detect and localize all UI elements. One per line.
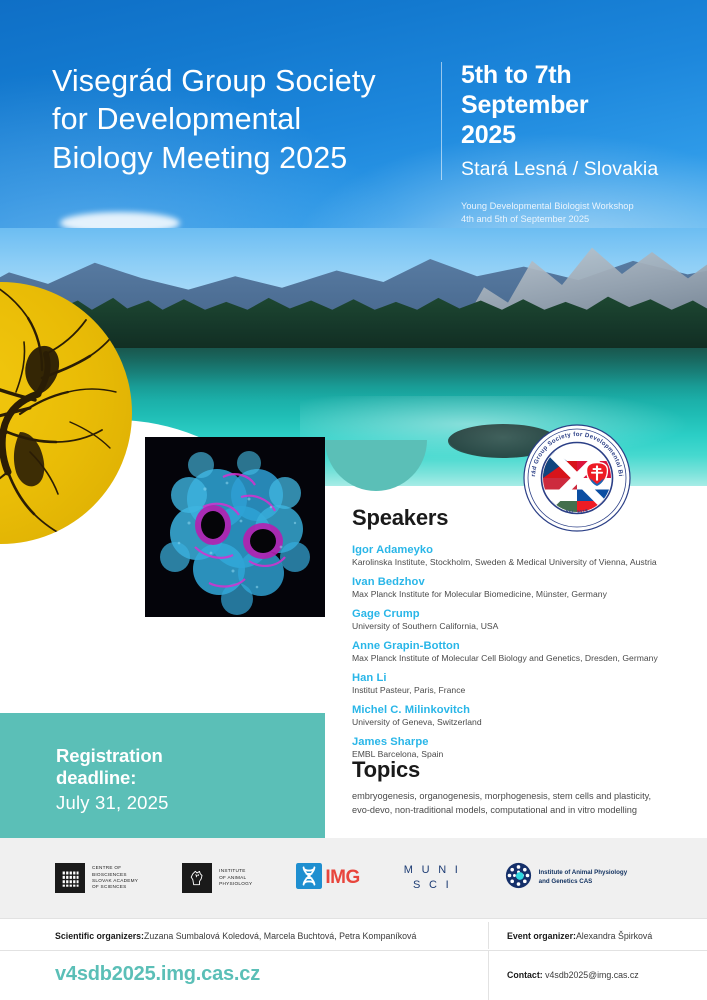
- topics-section: Topics embryogenesis, organogenesis, mor…: [352, 757, 697, 818]
- page-title: Visegrád Group Society for Developmental…: [52, 62, 432, 177]
- speaker-name: Ivan Bedzhov: [352, 576, 692, 588]
- contact-email[interactable]: v4sdb2025@img.cas.cz: [543, 970, 639, 980]
- conference-poster: Visegrád Group Society for Developmental…: [0, 0, 707, 1000]
- list-item: Han Li Institut Pasteur, Paris, France: [352, 672, 692, 695]
- vertical-divider: [488, 951, 489, 1000]
- list-item: Gage Crump University of Southern Califo…: [352, 608, 692, 631]
- logo-img: IMG: [296, 863, 359, 894]
- dna-helix-icon: [296, 863, 322, 894]
- logo-muni-sci: M U N I S C I: [404, 863, 461, 893]
- event-dates: 5th to 7th September 2025: [461, 60, 701, 150]
- event-organizer: Event organizer: Alexandra Špirková: [507, 919, 652, 952]
- biosciences-grid-icon: [55, 863, 85, 893]
- event-organizer-value: Alexandra Špirková: [576, 931, 652, 941]
- logo-label: CENTRE OF BIOSCIENCES SLOVAK ACADEMY OF …: [92, 865, 138, 891]
- logo-centre-of-biosciences: CENTRE OF BIOSCIENCES SLOVAK ACADEMY OF …: [55, 863, 138, 893]
- workshop-note: Young Developmental Biologist Workshop 4…: [461, 200, 701, 226]
- logo-label: M U N I S C I: [404, 863, 461, 893]
- iapg-circle-icon: [505, 862, 532, 894]
- speaker-name: Han Li: [352, 672, 692, 684]
- logo-institute-of-animal-physiology: INSTITUTE OF ANIMAL PHYSIOLOGY: [182, 863, 252, 893]
- speakers-section: Speakers Igor Adameyko Karolinska Instit…: [352, 505, 692, 768]
- speaker-affiliation: University of Geneva, Switzerland: [352, 717, 692, 727]
- logo-label: INSTITUTE OF ANIMAL PHYSIOLOGY: [219, 868, 252, 887]
- speaker-name: James Sharpe: [352, 736, 692, 748]
- speakers-list: Igor Adameyko Karolinska Institute, Stoc…: [352, 544, 692, 759]
- title-block: Visegrád Group Society for Developmental…: [52, 62, 432, 177]
- speaker-name: Michel C. Milinkovitch: [352, 704, 692, 716]
- list-item: Ivan Bedzhov Max Planck Institute for Mo…: [352, 576, 692, 599]
- speaker-affiliation: Karolinska Institute, Stockholm, Sweden …: [352, 557, 692, 567]
- event-location: Stará Lesná / Slovakia: [461, 158, 701, 181]
- list-item: Anne Grapin-Botton Max Planck Institute …: [352, 640, 692, 663]
- topics-text: embryogenesis, organogenesis, morphogene…: [352, 790, 697, 818]
- contact-bar: v4sdb2025.img.cas.cz Contact: v4sdb2025@…: [0, 951, 707, 1000]
- organoid-microscopy-image: [145, 437, 325, 617]
- registration-date: July 31, 2025: [56, 792, 169, 814]
- speaker-name: Gage Crump: [352, 608, 692, 620]
- contact-label: Contact:: [507, 970, 543, 980]
- header-divider: [441, 62, 442, 180]
- website-link[interactable]: v4sdb2025.img.cas.cz: [55, 963, 260, 986]
- scientific-organizers-value: Zuzana Sumbalová Koledová, Marcela Bucht…: [144, 931, 416, 941]
- logo-label: IMG: [325, 867, 359, 889]
- list-item: James Sharpe EMBL Barcelona, Spain: [352, 736, 692, 759]
- speakers-heading: Speakers: [352, 505, 692, 531]
- speaker-affiliation: Max Planck Institute of Molecular Cell B…: [352, 653, 692, 663]
- speaker-affiliation: Max Planck Institute for Molecular Biome…: [352, 589, 692, 599]
- logo-label: Institute of Animal Physiology and Genet…: [539, 869, 627, 886]
- vertical-divider: [488, 922, 489, 949]
- speaker-name: Igor Adameyko: [352, 544, 692, 556]
- sponsor-logo-band: CENTRE OF BIOSCIENCES SLOVAK ACADEMY OF …: [0, 838, 707, 918]
- registration-deadline-block: Registration deadline: July 31, 2025: [0, 713, 325, 838]
- speaker-affiliation: Institut Pasteur, Paris, France: [352, 685, 692, 695]
- list-item: Michel C. Milinkovitch University of Gen…: [352, 704, 692, 727]
- vein-pattern-icon: [0, 282, 132, 544]
- organizers-bar: Scientific organizers: Zuzana Sumbalová …: [0, 918, 707, 951]
- embryo-vasculature-image: [0, 282, 132, 544]
- speaker-name: Anne Grapin-Botton: [352, 640, 692, 652]
- organoid-icon: [145, 437, 325, 617]
- scientific-organizers: Scientific organizers: Zuzana Sumbalová …: [55, 919, 416, 952]
- logo-iapg-cas: Institute of Animal Physiology and Genet…: [505, 862, 627, 894]
- list-item: Igor Adameyko Karolinska Institute, Stoc…: [352, 544, 692, 567]
- animal-head-icon: [182, 863, 212, 893]
- scientific-organizers-label: Scientific organizers:: [55, 931, 144, 941]
- topics-heading: Topics: [352, 757, 697, 783]
- contact-info: Contact: v4sdb2025@img.cas.cz: [507, 970, 639, 980]
- speaker-affiliation: University of Southern California, USA: [352, 621, 692, 631]
- registration-title: Registration deadline:: [56, 745, 163, 789]
- event-organizer-label: Event organizer:: [507, 931, 576, 941]
- date-block: 5th to 7th September 2025 Stará Lesná / …: [461, 60, 701, 226]
